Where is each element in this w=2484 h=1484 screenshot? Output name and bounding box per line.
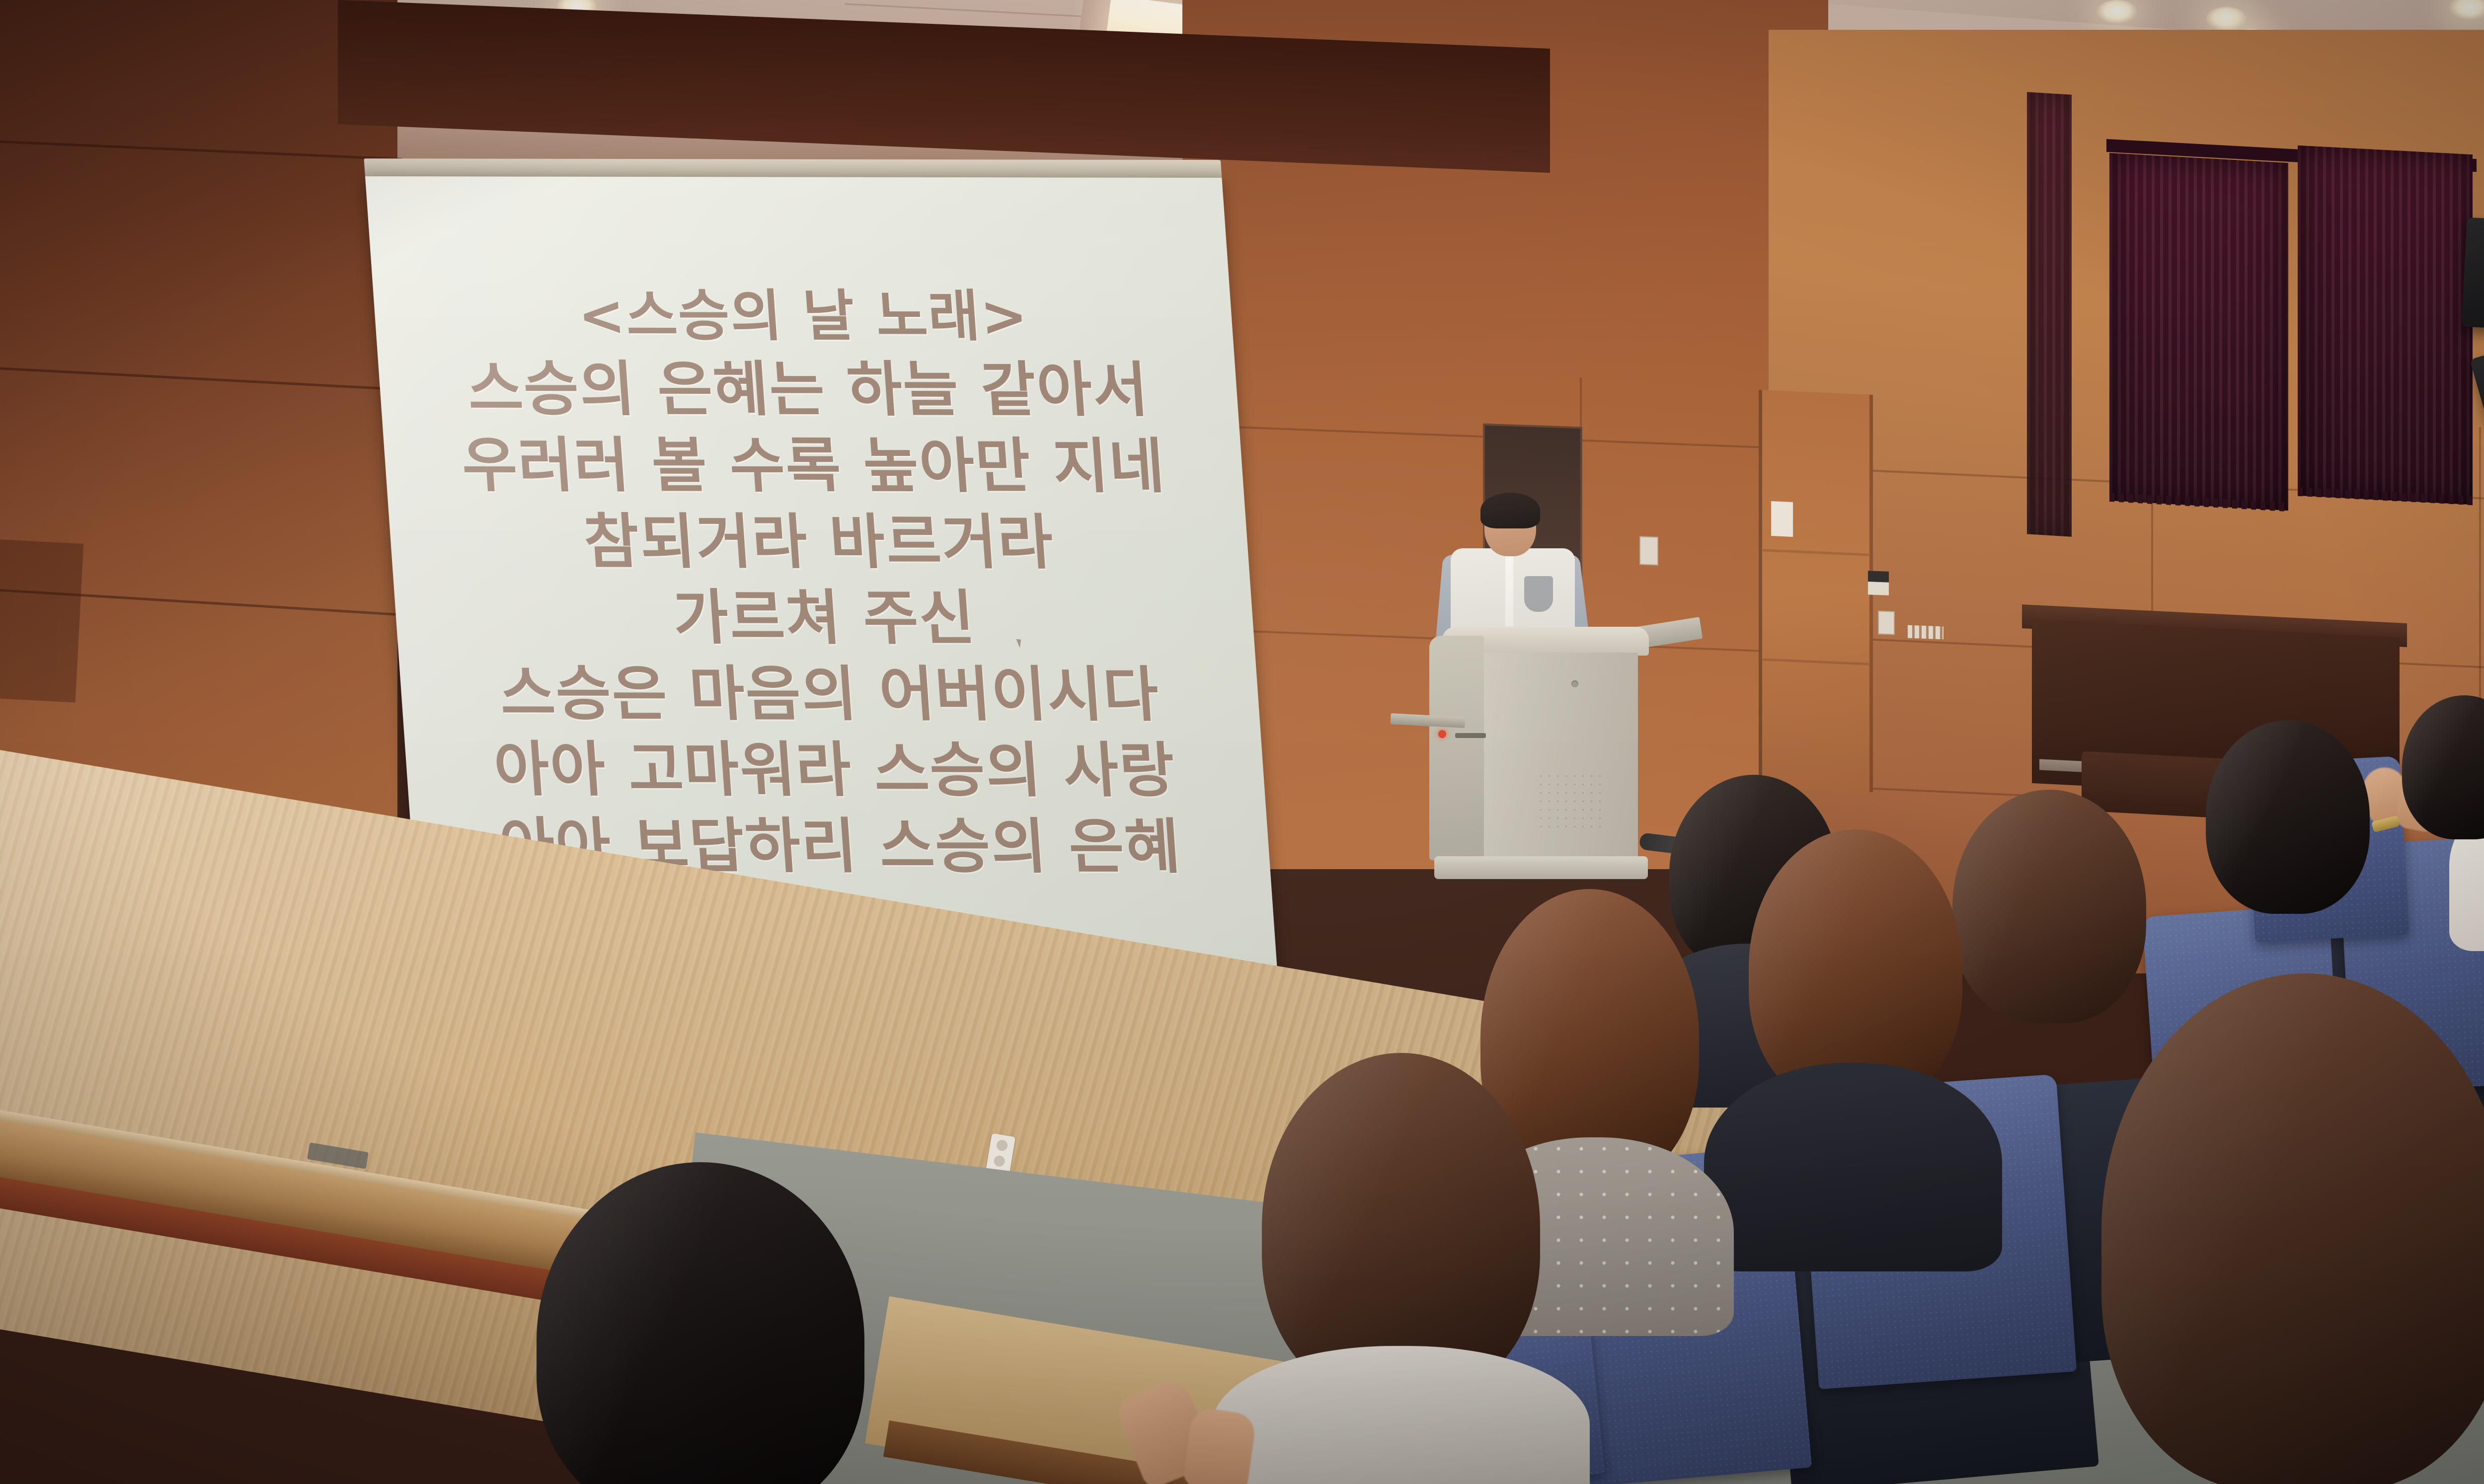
- slide-line-7: 아아 고마워라 스승의 사랑: [404, 732, 1266, 810]
- ceiling-downlight: [2206, 7, 2247, 31]
- window-curtain-left: [2109, 153, 2288, 511]
- wall-switch-bank[interactable]: [1908, 625, 1943, 640]
- lectern-vent-holes: [1537, 772, 1606, 831]
- slide-line-2: 스승의 은혜는 하늘 같아서: [378, 351, 1240, 429]
- hair-highlight: [1952, 790, 2146, 1023]
- lectern: [1448, 627, 1647, 880]
- auditorium-photo-scene: <스승의 날 노래> 스승의 은혜는 하늘 같아서 우러러 볼 수록 높아만 지…: [0, 0, 2484, 1484]
- window-curtain-right: [2298, 146, 2473, 505]
- door-sign: [1771, 501, 1793, 537]
- piano-bench: [2082, 751, 2226, 818]
- slide-line-4: 참되거라 바르거라: [388, 504, 1250, 581]
- lectern-screw: [1571, 680, 1578, 687]
- wall-light-switch[interactable]: [1878, 610, 1895, 635]
- wall-control-panel[interactable]: [1868, 571, 1889, 595]
- window-curtain-far-left: [2027, 92, 2072, 537]
- ceiling-downlight: [2096, 0, 2137, 24]
- wall-speaker-volume-plate[interactable]: [1639, 536, 1658, 565]
- lectern-drawer-handle[interactable]: [1455, 733, 1486, 738]
- audience-head-row3-mid: [2206, 720, 2370, 914]
- lectern-base: [1434, 856, 1648, 879]
- audience-hand-foreground-2: [1182, 1407, 1257, 1484]
- slide-line-6: 스승은 마음의 어버이시다: [399, 656, 1261, 733]
- stage-side-door[interactable]: [1759, 390, 1873, 792]
- slide-line-5: 가르쳐 주신: [393, 580, 1255, 657]
- slide-line-1: <스승의 날 노래>: [373, 280, 1234, 353]
- hair-highlight: [2206, 720, 2370, 914]
- presenter-hair: [1480, 493, 1540, 528]
- power-indicator-led: [1438, 730, 1446, 738]
- wall-left-recess: [0, 539, 83, 703]
- audience-head-row2-right: [1952, 790, 2146, 1023]
- presenter-chest-badge: [1524, 576, 1553, 612]
- lectern-left-panel: [1429, 636, 1484, 860]
- slide-lyrics: <스승의 날 노래> 스승의 은혜는 하늘 같아서 우러러 볼 수록 높아만 지…: [373, 280, 1271, 886]
- slide-line-3: 우러러 볼 수록 높아만 지네: [383, 428, 1244, 505]
- audience-shoulders-row2-mid: [1704, 1063, 2002, 1271]
